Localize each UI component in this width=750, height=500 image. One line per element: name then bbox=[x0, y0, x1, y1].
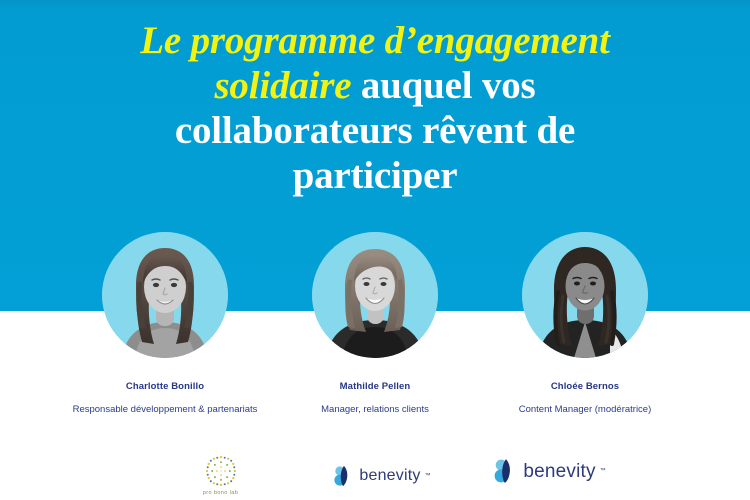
benevity-wordmark: benevity bbox=[359, 468, 420, 484]
speaker-name: Mathilde Pellen bbox=[340, 380, 411, 393]
logo-benevity-1: benevity™ bbox=[327, 456, 437, 496]
speaker-name: Charlotte Bonillo bbox=[126, 380, 204, 393]
title-line-4: participer bbox=[293, 154, 458, 197]
speaker-card: Chloée Bernos Content Manager (modératri… bbox=[480, 232, 690, 417]
webinar-title-slide: Le programme d’engagement solidaire auqu… bbox=[0, 0, 750, 500]
title-line-2-highlight: solidaire bbox=[214, 64, 351, 107]
speaker-role: Responsable développement & partenariats bbox=[73, 402, 258, 417]
benevity-wordmark: benevity bbox=[523, 462, 595, 481]
pro-bono-lab-wordmark: pro bono lab bbox=[203, 490, 238, 496]
avatar bbox=[102, 232, 228, 358]
speaker-list: Charlotte Bonillo Responsable développem… bbox=[0, 232, 750, 417]
logo-benevity-2: benevity™ bbox=[487, 448, 612, 494]
benevity-tm: ™ bbox=[425, 473, 431, 479]
speaker-name: Chloée Bernos bbox=[551, 380, 619, 393]
title-line-2-rest: auquel vos bbox=[351, 64, 535, 107]
speaker-role: Content Manager (modératrice) bbox=[519, 402, 652, 417]
benevity-b-icon bbox=[333, 465, 355, 487]
logo-row: pro bono lab benevity™ benevity™ bbox=[0, 440, 750, 500]
benevity-b-icon bbox=[493, 458, 519, 484]
logo-pro-bono-lab: pro bono lab bbox=[168, 450, 273, 500]
avatar bbox=[522, 232, 648, 358]
speaker-card: Charlotte Bonillo Responsable développem… bbox=[60, 232, 270, 417]
speaker-role: Manager, relations clients bbox=[321, 402, 429, 417]
pro-bono-lab-sunburst-icon bbox=[204, 454, 238, 488]
page-title: Le programme d’engagement solidaire auqu… bbox=[0, 18, 750, 198]
speaker-card: Mathilde Pellen Manager, relations clien… bbox=[270, 232, 480, 417]
title-line-3: collaborateurs rêvent de bbox=[175, 109, 575, 152]
avatar bbox=[312, 232, 438, 358]
title-line-1: Le programme d’engagement bbox=[140, 19, 609, 62]
benevity-tm: ™ bbox=[600, 468, 606, 474]
